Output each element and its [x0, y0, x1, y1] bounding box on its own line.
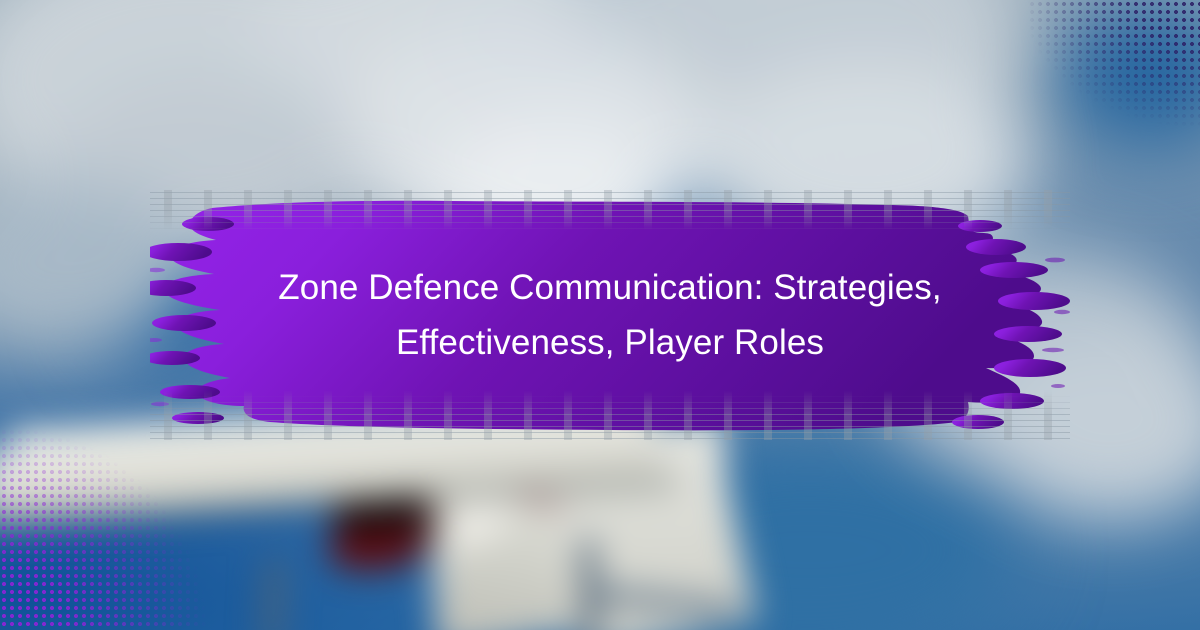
halftone-dots-bottom-left [0, 420, 210, 630]
page-title: Zone Defence Communication: Strategies, … [208, 260, 1012, 371]
social-share-card: Zone Defence Communication: Strategies, … [0, 0, 1200, 630]
title-container: Zone Defence Communication: Strategies, … [150, 190, 1070, 440]
halftone-dots-top-right [1028, 0, 1200, 132]
